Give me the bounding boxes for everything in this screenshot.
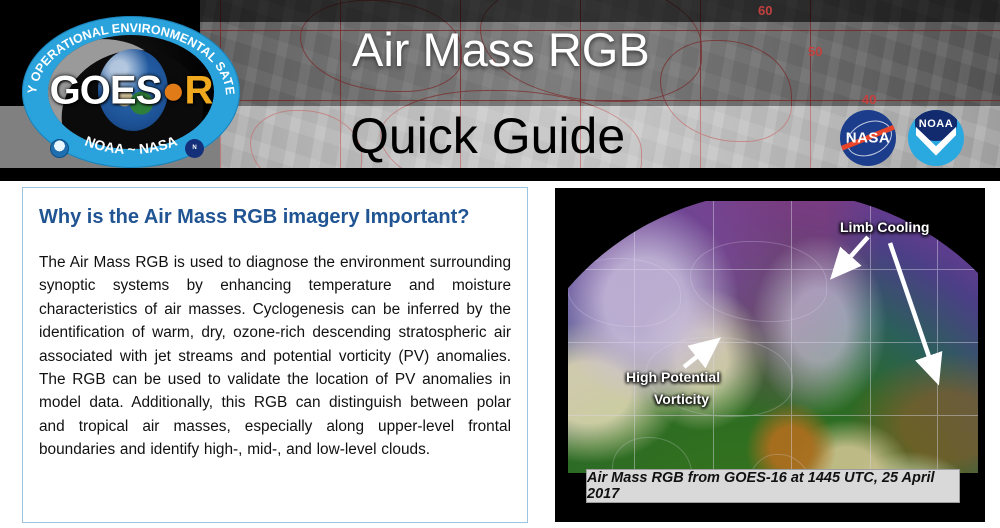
image-caption: Air Mass RGB from GOES-16 at 1445 UTC, 2… bbox=[586, 469, 960, 503]
satellite-map-grid bbox=[568, 201, 978, 473]
panel-heading: Why is the Air Mass RGB imagery Importan… bbox=[39, 204, 511, 231]
nasa-logo: NASA bbox=[840, 110, 896, 166]
imagery-panel: Limb Cooling High Potential Vorticity Ai… bbox=[555, 188, 985, 522]
air-mass-rgb-image: Limb Cooling High Potential Vorticity bbox=[568, 201, 978, 473]
latitude-label-40: 40 bbox=[862, 92, 876, 107]
nasa-logo-label: NASA bbox=[840, 130, 896, 147]
annotation-high-pv-line1: High Potential bbox=[626, 369, 720, 385]
noaa-logo-label: NOAA bbox=[908, 118, 964, 130]
goes-r-wordmark-r: R bbox=[184, 69, 212, 113]
goes-r-logo: GOES●R GEOSTATIONARY OPERATIONAL ENVIRON… bbox=[22, 16, 240, 168]
panel-body-text: The Air Mass RGB is used to diagnose the… bbox=[39, 251, 511, 462]
goes-r-dot-icon: ● bbox=[161, 69, 184, 113]
goes-r-wordmark-goes: GOES bbox=[50, 69, 162, 113]
noaa-seal-icon bbox=[50, 139, 69, 158]
latitude-label-50: 50 bbox=[808, 44, 822, 59]
goes-r-wordmark: GOES●R bbox=[48, 69, 214, 114]
noaa-logo: NOAA bbox=[908, 110, 964, 166]
why-important-panel: Why is the Air Mass RGB imagery Importan… bbox=[22, 187, 528, 523]
page-subtitle: Quick Guide bbox=[350, 107, 625, 165]
annotation-limb-cooling: Limb Cooling bbox=[840, 219, 929, 235]
header-banner: 60 50 40 GOES●R GEOSTATIONARY OPERATIONA… bbox=[0, 0, 1000, 181]
page-title: Air Mass RGB bbox=[352, 22, 650, 77]
latitude-label-60: 60 bbox=[758, 3, 772, 18]
goes-r-logo-interior: GOES●R bbox=[48, 35, 214, 149]
nasa-seal-icon: N bbox=[185, 139, 204, 158]
annotation-high-pv-line2: Vorticity bbox=[654, 391, 709, 407]
